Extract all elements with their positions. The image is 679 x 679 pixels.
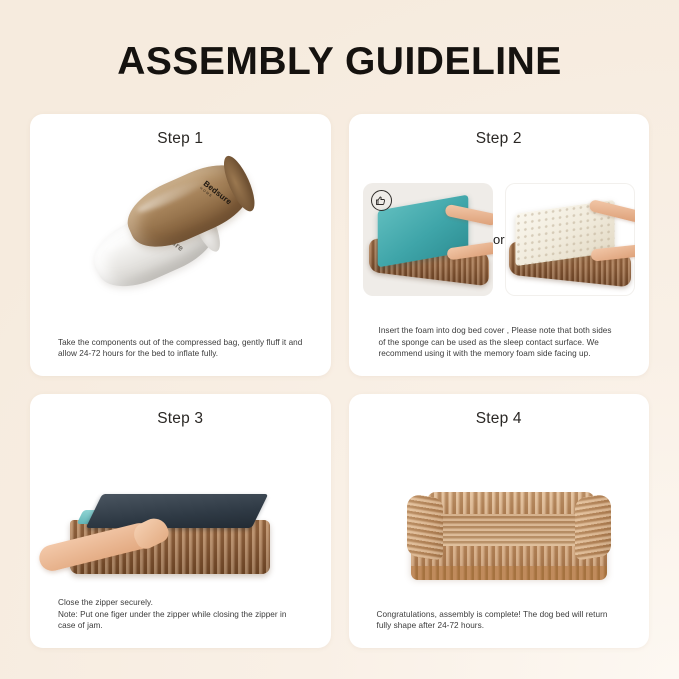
finished-bed-scene	[349, 428, 650, 609]
step-4-illustration	[349, 428, 650, 609]
navy-cover-top	[86, 494, 269, 528]
step-1-illustration: Bedsure HOME Bedsure HOME	[30, 148, 331, 337]
bed-ribs	[407, 493, 443, 561]
step-2-image-pair: or	[361, 160, 638, 319]
step-1-caption: Take the components out of the compresse…	[30, 337, 331, 376]
or-separator-label: or	[493, 232, 505, 247]
step-1-heading: Step 1	[30, 130, 331, 148]
bed-back-bolster	[427, 492, 595, 514]
roll-highlight	[136, 176, 208, 216]
bed-front-edge	[411, 566, 607, 580]
thumbs-up-icon	[371, 190, 392, 211]
compressed-rolls-scene: Bedsure HOME Bedsure HOME	[30, 162, 331, 312]
step-4-heading: Step 4	[349, 410, 650, 428]
step-4-caption: Congratulations, assembly is complete! T…	[349, 609, 650, 648]
step-2-right-photo	[505, 183, 635, 296]
step-card-2: Step 2	[349, 114, 650, 376]
assembly-guideline-page: ASSEMBLY GUIDELINE Step 1 Bedsure HOME	[0, 0, 679, 679]
zipper-scene	[30, 428, 331, 597]
step-3-illustration	[30, 428, 331, 597]
step-2-caption: Insert the foam into dog bed cover , Ple…	[349, 325, 650, 376]
bed-ribs	[575, 493, 611, 561]
bed-ribs	[427, 492, 595, 514]
page-title: ASSEMBLY GUIDELINE	[30, 0, 649, 83]
dog-bed	[405, 490, 613, 576]
step-2-left-photo	[363, 183, 493, 296]
steps-grid: Step 1 Bedsure HOME Bedsure HO	[30, 114, 649, 648]
step-3-caption: Close the zipper securely. Note: Put one…	[30, 597, 331, 648]
step-card-1: Step 1 Bedsure HOME Bedsure HO	[30, 114, 331, 376]
step-card-3: Step 3 Close the zipper securely. Note: …	[30, 394, 331, 648]
step-2-illustration: or	[349, 148, 650, 325]
bed-right-bolster	[575, 493, 611, 561]
step-card-4: Step 4	[349, 394, 650, 648]
bed-left-bolster	[407, 493, 443, 561]
brand-label-brown: Bedsure HOME	[199, 179, 233, 210]
step-2-heading: Step 2	[349, 130, 650, 148]
step-3-heading: Step 3	[30, 410, 331, 428]
